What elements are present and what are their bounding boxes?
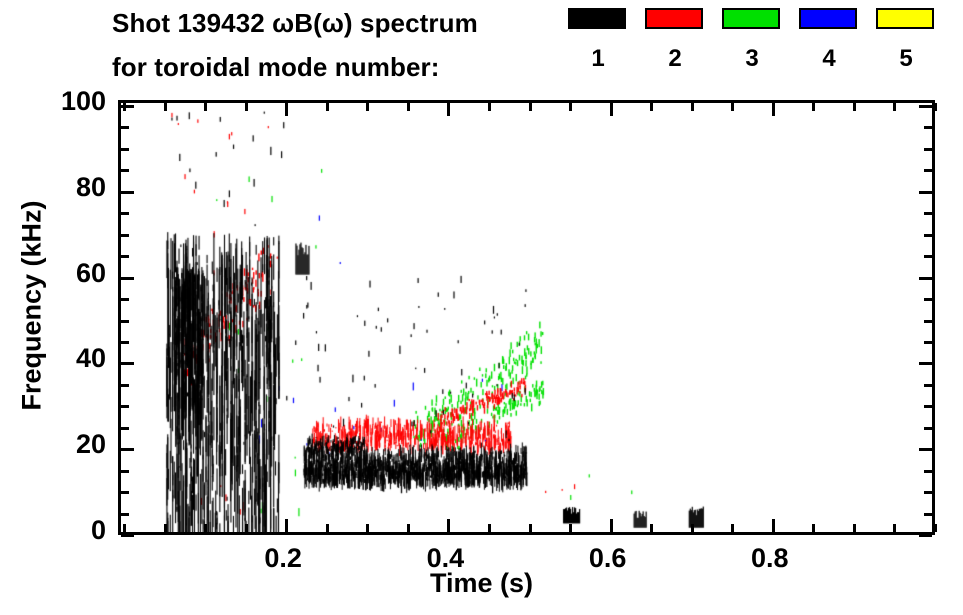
y-tick-right [924,491,932,494]
x-tick-top [610,103,613,116]
y-tick-right [924,320,932,323]
y-tick-right [924,126,932,129]
y-tick-label: 60 [20,258,106,289]
y-tick-right [924,169,932,172]
x-tick-label: 0.4 [400,543,490,574]
legend-swatch-3 [722,8,780,29]
figure-title-line-1: Shot 139432 ωB(ω) spectrum [112,8,478,39]
y-tick [121,384,129,387]
y-tick [121,234,129,237]
y-tick [121,427,129,430]
legend-entry-3: 3 [722,8,782,73]
x-tick [366,524,369,532]
y-tick [121,255,129,258]
y-tick [121,169,129,172]
y-tick [121,298,129,301]
x-tick [245,524,248,532]
x-tick [326,524,329,532]
y-tick [121,126,129,129]
y-tick [121,534,134,537]
x-tick-top [204,103,207,111]
x-tick [488,524,491,532]
x-tick-label: 0.8 [725,543,815,574]
y-tick-right [924,234,932,237]
y-tick [121,491,129,494]
plot-area [118,100,935,535]
y-tick-right [924,148,932,151]
x-tick-label: 0.6 [563,543,653,574]
y-tick [121,362,134,365]
y-tick-label: 0 [20,515,106,546]
y-tick-right [924,298,932,301]
y-tick-right [919,277,932,280]
x-tick-top [164,103,167,111]
y-tick-right [924,513,932,516]
y-tick-right [924,341,932,344]
x-tick [853,524,856,532]
y-tick [121,191,134,194]
y-tick-label: 40 [20,343,106,374]
x-tick-top [326,103,329,111]
y-tick-right [919,534,932,537]
y-tick [121,277,134,280]
y-tick [121,341,129,344]
y-tick [121,513,129,516]
x-tick-top [650,103,653,111]
y-tick-right [924,255,932,258]
legend-entry-2: 2 [645,8,705,73]
x-tick-top [772,103,775,116]
x-tick [731,524,734,532]
y-tick [121,105,134,108]
x-tick-top [812,103,815,111]
x-tick [204,524,207,532]
y-tick-right [919,362,932,365]
y-tick-label: 100 [20,86,106,117]
x-tick [285,519,288,532]
x-tick-top [893,103,896,111]
x-tick [529,524,532,532]
y-tick [121,448,134,451]
x-tick [893,524,896,532]
x-tick-top [366,103,369,111]
x-tick-top [853,103,856,111]
x-tick-top [407,103,410,111]
x-tick-top [529,103,532,111]
y-tick-right [924,405,932,408]
legend-label-2: 2 [645,45,705,73]
legend-entry-1: 1 [568,8,628,73]
x-tick [772,519,775,532]
legend: 12345 [568,8,960,90]
legend-swatch-5 [876,8,934,29]
y-tick-right [924,470,932,473]
x-tick [650,524,653,532]
spectrogram-figure: Shot 139432 ωB(ω) spectrum for toroidal … [0,0,963,615]
legend-swatch-2 [645,8,703,29]
x-tick-top [691,103,694,111]
x-tick [569,524,572,532]
y-tick-label: 20 [20,429,106,460]
x-tick [691,524,694,532]
y-tick-right [919,448,932,451]
x-tick [934,524,937,532]
legend-swatch-1 [568,8,626,29]
y-tick-right [924,212,932,215]
legend-swatch-4 [799,8,857,29]
legend-entry-5: 5 [876,8,936,73]
legend-entry-4: 4 [799,8,859,73]
figure-title-line-2: for toroidal mode number: [112,52,440,83]
y-tick [121,470,129,473]
y-tick [121,212,129,215]
legend-label-5: 5 [876,45,936,73]
x-tick [812,524,815,532]
x-tick [164,524,167,532]
y-tick [121,148,129,151]
legend-label-3: 3 [722,45,782,73]
spectrogram-data-canvas [121,103,932,532]
y-tick-right [919,105,932,108]
x-tick-top [285,103,288,116]
x-tick-label: 0.2 [238,543,328,574]
y-tick-right [919,191,932,194]
x-tick [123,524,126,532]
x-tick-top [447,103,450,116]
x-tick-top [245,103,248,111]
legend-label-1: 1 [568,45,628,73]
x-tick-top [934,103,937,111]
x-tick-top [731,103,734,111]
spectrogram-canvas-wrapper [121,103,932,532]
y-tick-right [924,384,932,387]
y-tick [121,320,129,323]
y-tick-right [924,427,932,430]
x-tick-top [569,103,572,111]
y-tick [121,405,129,408]
y-tick-label: 80 [20,172,106,203]
x-tick [610,519,613,532]
x-tick [447,519,450,532]
x-tick [407,524,410,532]
x-tick-top [488,103,491,111]
legend-label-4: 4 [799,45,859,73]
